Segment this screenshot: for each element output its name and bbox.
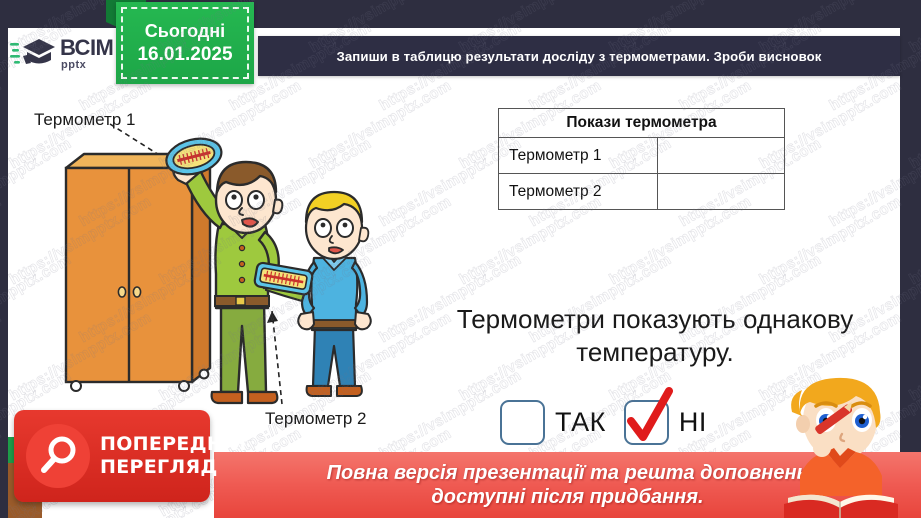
- table-row: Термометр 1: [499, 138, 785, 174]
- watermark-text: https://vsimpptx.com: [0, 309, 4, 404]
- checkbox-no[interactable]: [624, 400, 669, 445]
- answer-option-no[interactable]: НІ: [624, 400, 707, 445]
- today-label: Сьогодні: [145, 22, 225, 40]
- header-bar: Запиши в таблицю результати досліду з те…: [258, 36, 900, 76]
- watermark-text: https://vsimpptx.com: [0, 193, 4, 288]
- kid-with-book-illustration: [778, 372, 921, 518]
- magnifier-icon: [26, 424, 90, 488]
- today-date: 16.01.2025: [137, 45, 232, 64]
- readings-table-wrapper: Покази термометра Термометр 1 Термометр …: [498, 108, 785, 210]
- promo-line-2: доступні після придбання.: [431, 486, 703, 509]
- boy-illustration: [298, 192, 371, 396]
- table-row-label-2: Термометр 2: [499, 174, 658, 210]
- watermark-text: https://vsimpptx.com: [907, 193, 921, 288]
- check-mark-icon: [623, 385, 675, 443]
- preview-line-1: ПОПЕРЕДНІЙ: [100, 435, 247, 454]
- preview-badge-text: ПОПЕРЕДНІЙ ПЕРЕГЛЯД: [100, 435, 247, 477]
- slide-root: Термометр 1 Термометр 2 Запиши в таблицю…: [0, 0, 921, 518]
- answer-label-yes: ТАК: [555, 407, 606, 438]
- brand-logo[interactable]: ВСІМ pptx: [10, 30, 120, 78]
- statement-line-1: Термометри показують однакову: [415, 303, 895, 336]
- table-row-value-2[interactable]: [658, 174, 785, 210]
- conclusion-statement: Термометри показують однакову температур…: [415, 303, 895, 370]
- answer-option-yes[interactable]: ТАК: [500, 400, 606, 445]
- table-row-value-1[interactable]: [658, 138, 785, 174]
- watermark-text: https://vsimpptx.com: [907, 77, 921, 172]
- preview-badge[interactable]: ПОПЕРЕДНІЙ ПЕРЕГЛЯД: [14, 410, 210, 502]
- watermark-text: https://vsimpptx.com: [0, 77, 4, 172]
- today-date-badge: Сьогодні 16.01.2025: [116, 2, 254, 84]
- page-title: Запиши в таблицю результати досліду з те…: [337, 49, 822, 64]
- readings-table: Покази термометра Термометр 1 Термометр …: [498, 108, 785, 210]
- graduation-cap-icon: [10, 34, 56, 74]
- checkbox-yes[interactable]: [500, 400, 545, 445]
- table-row-label-1: Термометр 1: [499, 138, 658, 174]
- watermark-text: https://vsimpptx.com: [907, 0, 921, 56]
- preview-line-2: ПЕРЕГЛЯД: [100, 458, 247, 477]
- watermark-text: https://vsimpptx.com: [0, 0, 4, 56]
- experiment-illustration: [14, 96, 434, 416]
- watermark-text: https://vsimpptx.com: [0, 425, 4, 518]
- table-row: Термометр 2: [499, 174, 785, 210]
- table-header-cell: Покази термометра: [499, 109, 785, 138]
- promo-line-1: Повна версія презентації та решта доповн…: [327, 462, 809, 485]
- statement-line-2: температуру.: [415, 336, 895, 369]
- answer-options: ТАК НІ: [500, 400, 707, 445]
- callout-thermometer-2: Термометр 2: [265, 409, 366, 429]
- answer-label-no: НІ: [679, 407, 707, 438]
- pointer-line-thermometer2: [267, 311, 282, 404]
- date-badge-wrapper: Сьогодні 16.01.2025: [106, 0, 256, 86]
- callout-thermometer-1: Термометр 1: [34, 110, 135, 130]
- table-header-row: Покази термометра: [499, 109, 785, 138]
